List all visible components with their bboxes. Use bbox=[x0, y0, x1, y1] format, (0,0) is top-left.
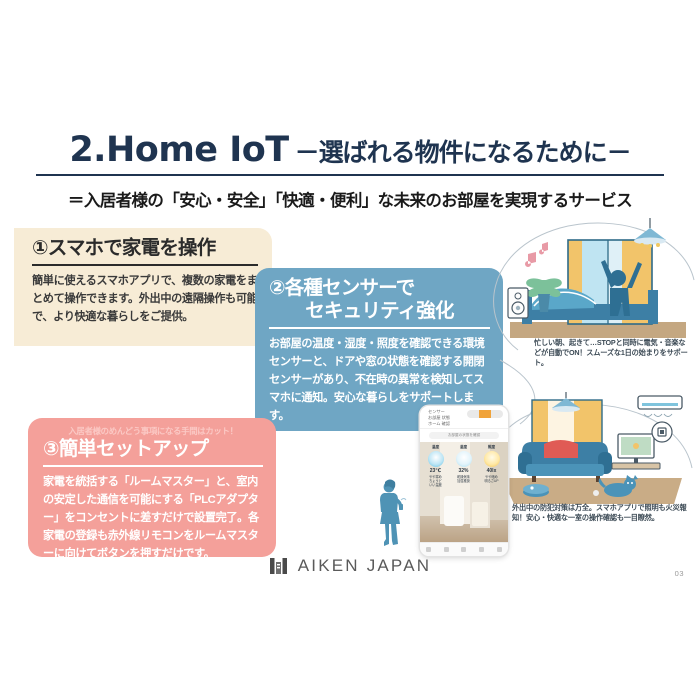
title-underline bbox=[36, 174, 664, 176]
feature-box-easy-setup: 入居者様のめんどう事項になる手間はカット！ ③簡単セットアップ 家電を統括する「… bbox=[28, 418, 276, 557]
slide-root: 2.Home IoT －選ばれる物件になるために－ ＝入居者様の「安心・安全」「… bbox=[0, 0, 700, 700]
feature-box-1-body: 簡単に使えるスマホアプリで、複数の家電をまとめて操作できます。外出中の遠隔操作も… bbox=[32, 272, 258, 326]
phone-status-text: センサーお部屋 状態ホーム 確認 bbox=[428, 409, 450, 427]
humidity-icon bbox=[456, 451, 472, 467]
logo-text: AIKEN JAPAN bbox=[298, 556, 431, 576]
smartphone-app-mockup[interactable]: センサーお部屋 状態ホーム 確認 お部屋の状態を確認 温度 23℃ やや寒めちょ… bbox=[420, 406, 508, 556]
feature-box-2-divider bbox=[269, 327, 490, 329]
living-illustration-caption: 外出中の防犯対策は万全。スマホアプリで照明も火災報知！安心・快適な一室の操作確認… bbox=[512, 503, 690, 523]
nav-item-scenes-icon[interactable] bbox=[479, 547, 484, 552]
illuminance-icon bbox=[484, 451, 500, 467]
sensor-label-temperature: 温度 bbox=[423, 446, 448, 450]
page-title-main: 2.Home IoT bbox=[69, 132, 288, 169]
sensor-value-humidity: 32% bbox=[451, 468, 476, 474]
morning-illustration-caption: 忙しい朝、起きて…STOPと同時に電気・音楽などが自動でON！スムーズな1日の始… bbox=[534, 338, 692, 369]
living-room-illustration bbox=[492, 392, 692, 514]
phone-status-bar: センサーお部屋 状態ホーム 確認 bbox=[420, 406, 508, 429]
slide-header: 2.Home IoT －選ばれる物件になるために－ ＝入居者様の「安心・安全」「… bbox=[0, 132, 700, 211]
page-subtitle: ＝入居者様の「安心・安全」「快適・便利」な未来のお部屋を実現するサービス bbox=[0, 187, 700, 211]
feature-box-1-divider bbox=[32, 264, 258, 266]
feature-box-3-divider bbox=[43, 465, 263, 467]
sofa-icon bbox=[518, 440, 612, 482]
footer-logo: AIKEN JAPAN bbox=[0, 556, 700, 576]
signal-bubble-icon bbox=[652, 422, 672, 442]
toggle-segment-3[interactable] bbox=[491, 410, 503, 418]
sensor-widget-illuminance[interactable]: 照度 40lx やや暗め明るさUP bbox=[479, 446, 504, 483]
temperature-icon bbox=[428, 451, 444, 467]
phone-mode-toggle[interactable] bbox=[467, 410, 503, 418]
speaker-icon bbox=[508, 288, 528, 318]
sensor-sub-illuminance: やや暗め明るさUP bbox=[479, 475, 504, 483]
page-number: 03 bbox=[675, 569, 684, 578]
sensor-sub-temperature: やや寒めちょうどいい温度 bbox=[423, 475, 448, 487]
nav-item-settings-icon[interactable] bbox=[497, 547, 502, 552]
toggle-segment-1[interactable] bbox=[467, 410, 479, 418]
toggle-segment-2[interactable] bbox=[479, 410, 491, 418]
feature-box-2-heading-line1: ②各種センサーで bbox=[269, 277, 414, 299]
robot-vacuum-icon bbox=[523, 484, 549, 497]
feature-box-2-heading-line2: セキュリティ強化 bbox=[269, 300, 490, 323]
phone-bottom-nav[interactable] bbox=[420, 542, 508, 556]
tv-icon bbox=[612, 434, 660, 469]
woman-with-phone-silhouette bbox=[374, 478, 408, 550]
sensor-label-illuminance: 照度 bbox=[479, 446, 504, 450]
feature-box-3-kicker: 入居者様のめんどう事項になる手間はカット！ bbox=[43, 425, 263, 437]
sensor-widget-humidity[interactable]: 湿度 32% 乾燥気味加湿推奨 bbox=[451, 446, 476, 483]
feature-box-2-heading: ②各種センサーで セキュリティ強化 bbox=[269, 277, 490, 323]
nav-item-home-icon[interactable] bbox=[426, 547, 431, 552]
building-icon bbox=[269, 556, 289, 576]
phone-search-field[interactable]: お部屋の状態を確認 bbox=[429, 432, 499, 439]
sensor-sub-humidity: 乾燥気味加湿推奨 bbox=[451, 475, 476, 483]
morning-wake-up-illustration bbox=[498, 218, 694, 358]
feature-box-3-body: 家電を統括する「ルームマスター」と、室内の安定した通信を可能にする「PLCアダプ… bbox=[43, 473, 263, 564]
page-title-sub: －選ばれる物件になるために－ bbox=[295, 140, 631, 166]
feature-box-1-heading: ①スマホで家電を操作 bbox=[32, 237, 258, 260]
sensor-widget-temperature[interactable]: 温度 23℃ やや寒めちょうどいい温度 bbox=[423, 446, 448, 487]
sensor-label-humidity: 湿度 bbox=[451, 446, 476, 450]
sensor-value-illuminance: 40lx bbox=[479, 468, 504, 474]
air-conditioner-icon bbox=[638, 396, 682, 417]
nav-item-devices-icon[interactable] bbox=[444, 547, 449, 552]
music-note-icon bbox=[525, 242, 548, 267]
nav-item-sensors-icon[interactable] bbox=[461, 547, 466, 552]
feature-box-smartphone-control: ①スマホで家電を操作 簡単に使えるスマホアプリで、複数の家電をまとめて操作できま… bbox=[14, 228, 272, 346]
feature-box-3-heading: ③簡単セットアップ bbox=[43, 438, 263, 461]
sensor-value-temperature: 23℃ bbox=[423, 468, 448, 474]
page-title: 2.Home IoT －選ばれる物件になるために－ bbox=[0, 132, 700, 169]
phone-room-view: 温度 23℃ やや寒めちょうどいい温度 湿度 32% 乾燥気味加湿推奨 照度 4… bbox=[420, 442, 508, 547]
